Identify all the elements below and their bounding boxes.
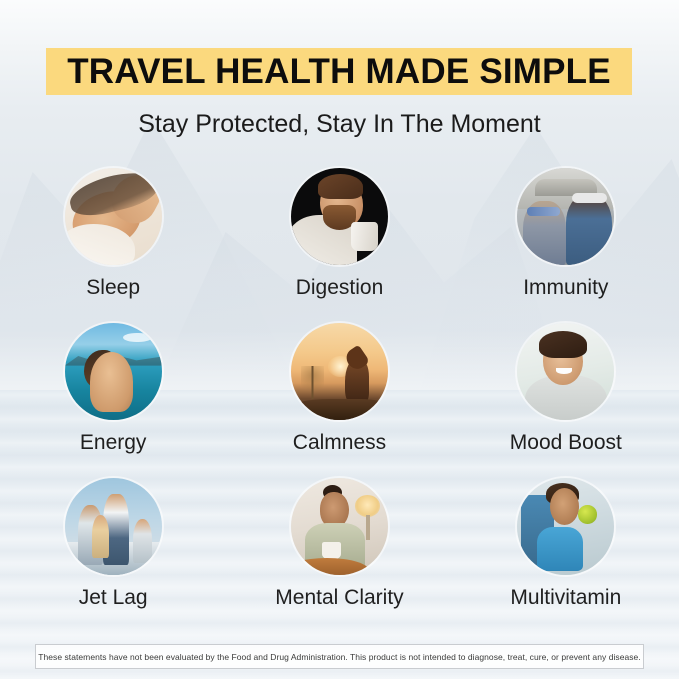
benefit-item-digestion: Digestion [226,168,452,323]
benefits-row-1: Sleep Digestion Immunity [0,168,679,323]
benefit-label: Calmness [293,431,386,455]
benefit-label: Mental Clarity [275,586,403,610]
benefit-item-jet-lag: Jet Lag [0,478,226,633]
mental-clarity-photo-icon [291,478,388,575]
benefit-item-mental-clarity: Mental Clarity [226,478,452,633]
benefit-label: Multivitamin [510,586,621,610]
page-title: TRAVEL HEALTH MADE SIMPLE [67,54,611,89]
benefit-label: Energy [80,431,147,455]
benefits-row-2: Energy Calmness Mood Boo [0,323,679,478]
page-subtitle: Stay Protected, Stay In The Moment [0,110,679,139]
sleep-photo-icon [65,168,162,265]
benefit-label: Sleep [86,276,140,300]
infographic-content: TRAVEL HEALTH MADE SIMPLE Stay Protected… [0,0,679,679]
benefit-label: Jet Lag [79,586,148,610]
benefit-item-multivitamin: Multivitamin [453,478,679,633]
benefit-item-sleep: Sleep [0,168,226,323]
benefits-grid: Sleep Digestion Immunity [0,168,679,633]
benefit-item-mood-boost: Mood Boost [453,323,679,478]
benefits-row-3: Jet Lag Mental Clarity [0,478,679,633]
multivitamin-photo-icon [517,478,614,575]
calmness-photo-icon [291,323,388,420]
benefit-label: Immunity [523,276,608,300]
benefit-item-energy: Energy [0,323,226,478]
mood-boost-photo-icon [517,323,614,420]
immunity-photo-icon [517,168,614,265]
disclaimer-text: These statements have not been evaluated… [38,652,641,662]
jet-lag-photo-icon [65,478,162,575]
benefit-item-immunity: Immunity [453,168,679,323]
digestion-photo-icon [291,168,388,265]
benefit-label: Mood Boost [510,431,622,455]
benefit-item-calmness: Calmness [226,323,452,478]
energy-photo-icon [65,323,162,420]
fda-disclaimer-box: These statements have not been evaluated… [35,644,644,669]
benefit-label: Digestion [296,276,384,300]
title-banner: TRAVEL HEALTH MADE SIMPLE [46,48,632,95]
